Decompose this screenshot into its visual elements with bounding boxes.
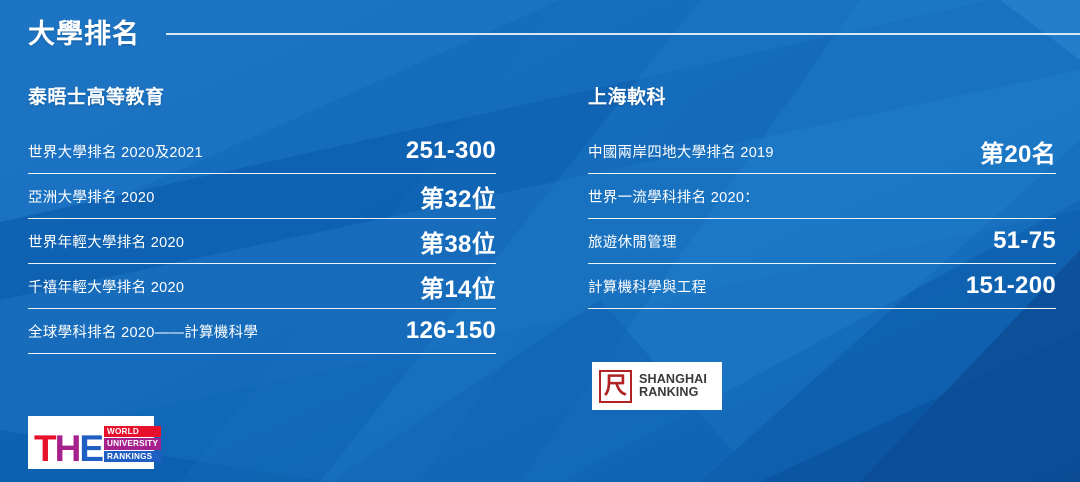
the-letter-h-icon: H — [55, 434, 80, 464]
row-label: 世界大學排名 2020及2021 — [28, 141, 203, 162]
row-label: 中國兩岸四地大學排名 2019 — [588, 141, 774, 162]
row-label: 亞洲大學排名 2020 — [28, 186, 155, 207]
row-label: 計算機科學與工程 — [588, 276, 706, 297]
table-row: 旅遊休閒管理 51-75 — [588, 219, 1056, 264]
the-letter-t-icon: T — [34, 434, 55, 464]
the-bar-rankings: RANKINGS — [104, 451, 161, 462]
row-label: 全球學科排名 2020——計算機科學 — [28, 321, 258, 342]
title-divider — [166, 33, 1080, 35]
shanghai-ranking-glyph: 尺 — [604, 374, 627, 397]
column-shanghairanking: 上海軟科 中國兩岸四地大學排名 2019 第20名 世界一流學科排名 2020：… — [588, 88, 1056, 309]
row-value: 第32位 — [420, 179, 496, 214]
row-label: 旅遊休閒管理 — [588, 231, 677, 252]
row-label: 世界年輕大學排名 2020 — [28, 231, 184, 252]
the-world-university-rankings-logo: T H E WORLD UNIVERSITY RANKINGS — [28, 416, 154, 469]
shanghai-ranking-wordmark: SHANGHAI RANKING — [639, 373, 707, 399]
row-value: 151-200 — [966, 272, 1056, 300]
row-value: 第14位 — [420, 269, 496, 304]
the-bars: WORLD UNIVERSITY RANKINGS — [104, 421, 161, 464]
the-bar-world: WORLD — [104, 426, 161, 437]
shanghai-ranking-line2: RANKING — [639, 386, 707, 399]
table-row: 世界一流學科排名 2020： — [588, 174, 1056, 219]
table-row: 世界年輕大學排名 2020 第38位 — [28, 219, 496, 264]
the-letter-e-icon: E — [79, 434, 102, 464]
row-value: 第38位 — [420, 224, 496, 259]
table-row: 亞洲大學排名 2020 第32位 — [28, 174, 496, 219]
page-title-row: 大學排名 — [28, 12, 1080, 56]
row-value: 第20名 — [980, 134, 1056, 169]
row-label: 世界一流學科排名 2020： — [588, 186, 759, 207]
table-row: 世界大學排名 2020及2021 251-300 — [28, 129, 496, 174]
the-wordmark: T H E — [34, 421, 102, 464]
table-row: 千禧年輕大學排名 2020 第14位 — [28, 264, 496, 309]
the-bar-university: UNIVERSITY — [104, 438, 161, 449]
slide-root: 大學排名 泰晤士高等教育 世界大學排名 2020及2021 251-300 亞洲… — [0, 0, 1080, 482]
table-row: 全球學科排名 2020——計算機科學 126-150 — [28, 309, 496, 354]
row-value: 251-300 — [406, 137, 496, 165]
row-value: 51-75 — [993, 227, 1056, 255]
row-label: 千禧年輕大學排名 2020 — [28, 276, 184, 297]
column-the: 泰晤士高等教育 世界大學排名 2020及2021 251-300 亞洲大學排名 … — [28, 88, 496, 354]
shanghai-ranking-logo: 尺 SHANGHAI RANKING — [592, 362, 722, 410]
page-title: 大學排名 — [28, 21, 140, 48]
table-row: 計算機科學與工程 151-200 — [588, 264, 1056, 309]
shanghai-ranking-mark-icon: 尺 — [599, 370, 632, 403]
column-heading-shanghairanking: 上海軟科 — [588, 88, 1056, 107]
column-heading-the: 泰晤士高等教育 — [28, 88, 496, 107]
row-value: 126-150 — [406, 317, 496, 345]
table-row: 中國兩岸四地大學排名 2019 第20名 — [588, 129, 1056, 174]
